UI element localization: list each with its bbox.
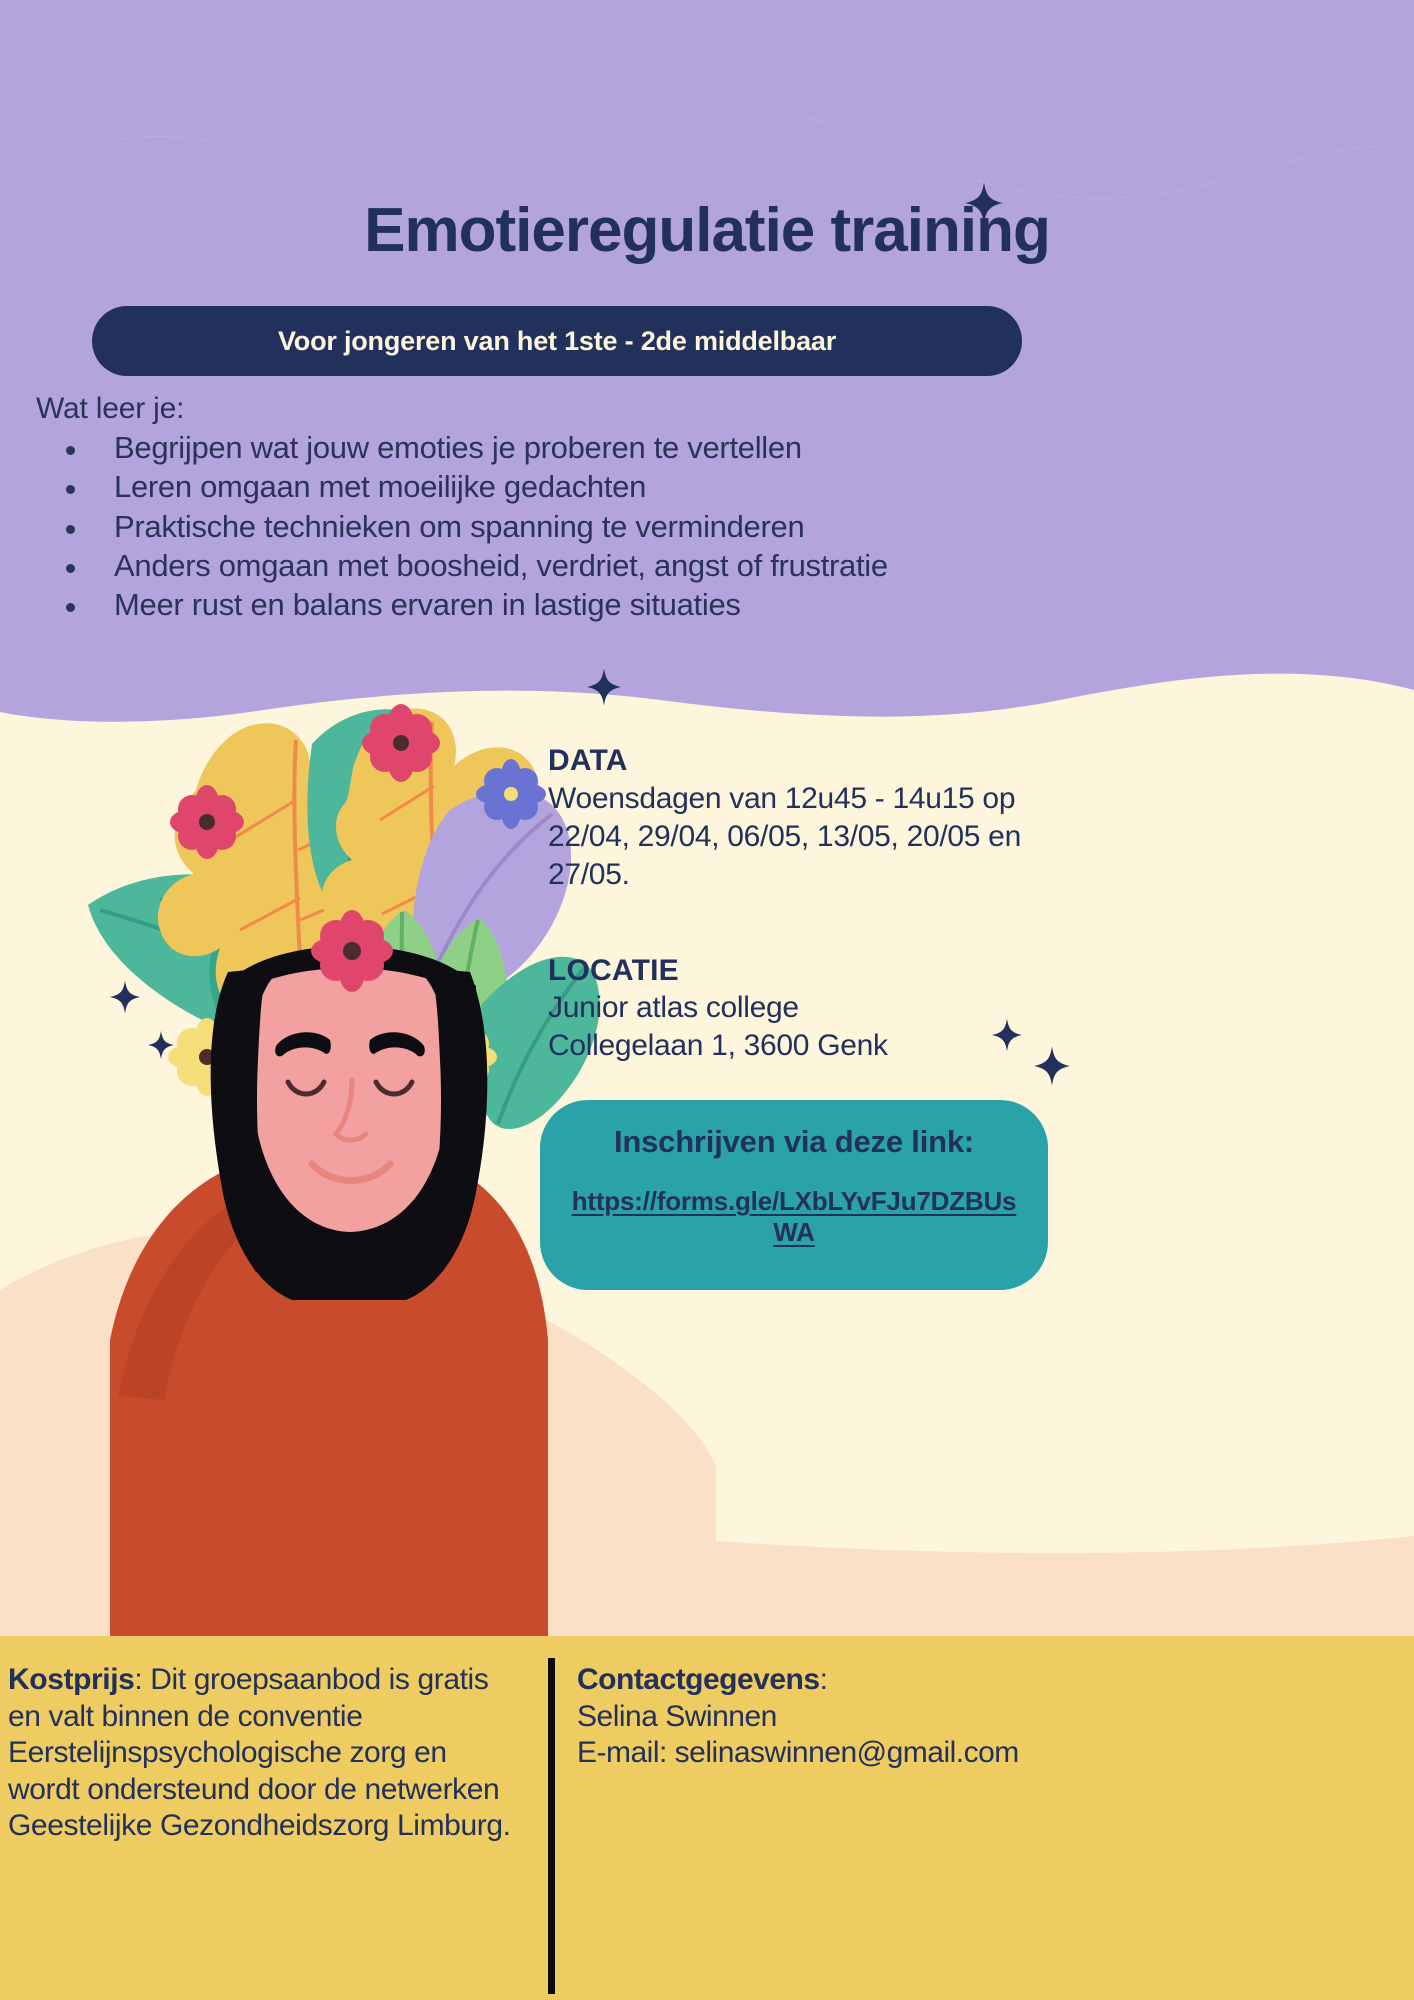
signup-link[interactable]: https://forms.gle/LXbLYvFJu7DZBUsWA [562,1186,1026,1247]
list-item: Praktische technieken om spanning te ver… [58,509,958,545]
locatie-block: LOCATIE Junior atlas college Collegelaan… [548,952,1088,1066]
footer-contact-section: Contactgegevens: Selina Swinnen E-mail: … [555,1636,1414,2000]
flower-pink-forehead [311,910,393,992]
page-title: Emotieregulatie training [0,198,1414,263]
subtitle-banner: Voor jongeren van het 1ste - 2de middelb… [92,306,1022,376]
data-body: Woensdagen van 12u45 - 14u15 op 22/04, 2… [548,780,1088,894]
list-item: Leren omgaan met moeilijke gedachten [58,469,958,505]
learn-label: Wat leer je: [36,392,184,426]
list-item: Meer rust en balans ervaren in lastige s… [58,587,958,623]
locatie-body: Junior atlas college Collegelaan 1, 3600… [548,989,1088,1065]
flower-pink-top [362,704,440,782]
sparkle-icon [965,182,1003,224]
flower-blue-center [273,1012,347,1086]
info-column: DATA Woensdagen van 12u45 - 14u15 op 22/… [548,742,1088,1065]
list-item: Begrijpen wat jouw emoties je proberen t… [58,430,958,466]
footer-divider [548,1658,555,1994]
flower-yellow-right [423,1020,497,1094]
sparkle-icon [148,1030,174,1060]
cost-label: Kostprijs [8,1663,134,1696]
flower-yellow-left [168,1018,246,1096]
poster-canvas: Emotieregulatie training Voor jongeren v… [0,0,1414,2000]
sparkle-icon [110,980,140,1014]
learn-list: Begrijpen wat jouw emoties je proberen t… [58,430,958,626]
person-illustration [88,704,600,1640]
list-item: Anders omgaan met boosheid, verdriet, an… [58,548,958,584]
cost-text: Kostprijs: Dit groepsaanbod is gratis en… [8,1662,520,1845]
cta-title: Inschrijven via deze link: [562,1124,1026,1160]
footer-bar: Kostprijs: Dit groepsaanbod is gratis en… [0,1636,1414,2000]
footer-cost-section: Kostprijs: Dit groepsaanbod is gratis en… [0,1636,548,2000]
flower-blue-right [476,759,546,829]
header-zone: Emotieregulatie training Voor jongeren v… [0,0,1414,700]
contact-colon: : [820,1663,828,1696]
signup-cta-box: Inschrijven via deze link: https://forms… [540,1100,1048,1290]
subtitle-text: Voor jongeren van het 1ste - 2de middelb… [278,326,836,357]
sparkle-icon [587,668,621,706]
data-heading: DATA [548,742,1088,780]
contact-heading: Contactgegevens: [577,1662,1404,1699]
contact-name: Selina Swinnen [577,1699,1404,1736]
contact-email: E-mail: selinaswinnen@gmail.com [577,1735,1404,1772]
flower-pink-left [170,785,244,859]
contact-label: Contactgegevens [577,1663,820,1696]
locatie-heading: LOCATIE [548,952,1088,990]
